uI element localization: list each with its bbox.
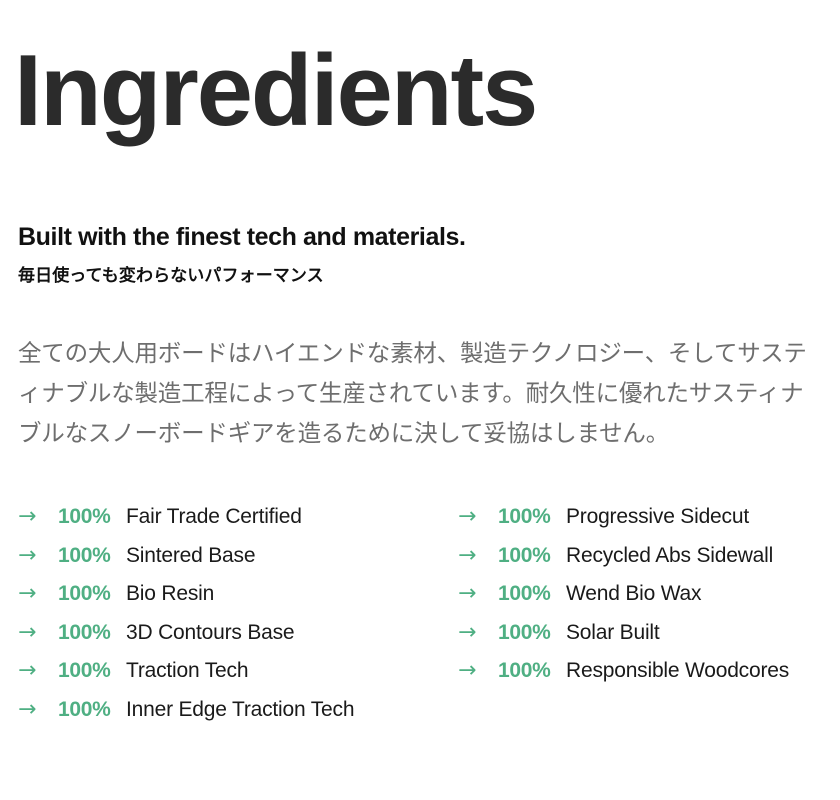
page-title: Ingredients bbox=[14, 38, 536, 144]
feature-item: →100%Responsible Woodcores bbox=[458, 659, 789, 698]
arrow-right-icon: → bbox=[458, 583, 498, 605]
feature-percent: 100% bbox=[58, 582, 126, 606]
feature-percent: 100% bbox=[58, 621, 126, 645]
arrow-right-icon: → bbox=[458, 545, 498, 567]
feature-item: →100%Recycled Abs Sidewall bbox=[458, 544, 789, 583]
feature-label: 3D Contours Base bbox=[126, 621, 294, 645]
feature-item: →100%Solar Built bbox=[458, 621, 789, 660]
feature-label: Fair Trade Certified bbox=[126, 505, 302, 529]
ingredients-page: Ingredients Built with the finest tech a… bbox=[0, 0, 840, 800]
feature-item: →100%Wend Bio Wax bbox=[458, 582, 789, 621]
arrow-right-icon: → bbox=[458, 506, 498, 528]
feature-label: Responsible Woodcores bbox=[566, 659, 789, 683]
arrow-right-icon: → bbox=[18, 660, 58, 682]
feature-percent: 100% bbox=[58, 544, 126, 568]
feature-column-right: →100%Progressive Sidecut→100%Recycled Ab… bbox=[458, 505, 789, 698]
feature-item: →100%Traction Tech bbox=[18, 659, 354, 698]
intro-paragraph: 全ての大人用ボードはハイエンドな素材、製造テクノロジー、そしてサスティナブルな製… bbox=[18, 333, 824, 453]
feature-percent: 100% bbox=[498, 621, 566, 645]
section-subheading-japanese: 毎日使っても変わらないパフォーマンス bbox=[18, 265, 324, 287]
feature-percent: 100% bbox=[58, 698, 126, 722]
arrow-right-icon: → bbox=[18, 699, 58, 721]
feature-label: Wend Bio Wax bbox=[566, 582, 701, 606]
feature-item: →100%Inner Edge Traction Tech bbox=[18, 698, 354, 737]
arrow-right-icon: → bbox=[458, 660, 498, 682]
feature-item: →100%Bio Resin bbox=[18, 582, 354, 621]
feature-item: →100%Progressive Sidecut bbox=[458, 505, 789, 544]
feature-item: →100%3D Contours Base bbox=[18, 621, 354, 660]
arrow-right-icon: → bbox=[18, 506, 58, 528]
feature-percent: 100% bbox=[498, 582, 566, 606]
feature-label: Bio Resin bbox=[126, 582, 214, 606]
feature-percent: 100% bbox=[58, 505, 126, 529]
feature-label: Traction Tech bbox=[126, 659, 248, 683]
feature-percent: 100% bbox=[498, 505, 566, 529]
feature-percent: 100% bbox=[58, 659, 126, 683]
feature-label: Sintered Base bbox=[126, 544, 255, 568]
feature-label: Inner Edge Traction Tech bbox=[126, 698, 354, 722]
feature-percent: 100% bbox=[498, 659, 566, 683]
feature-label: Recycled Abs Sidewall bbox=[566, 544, 773, 568]
feature-list: →100%Fair Trade Certified→100%Sintered B… bbox=[0, 505, 840, 755]
arrow-right-icon: → bbox=[18, 622, 58, 644]
feature-label: Solar Built bbox=[566, 621, 660, 645]
feature-item: →100%Sintered Base bbox=[18, 544, 354, 583]
feature-item: →100%Fair Trade Certified bbox=[18, 505, 354, 544]
arrow-right-icon: → bbox=[18, 545, 58, 567]
feature-column-left: →100%Fair Trade Certified→100%Sintered B… bbox=[18, 505, 354, 737]
feature-percent: 100% bbox=[498, 544, 566, 568]
feature-label: Progressive Sidecut bbox=[566, 505, 749, 529]
section-subheading: Built with the finest tech and materials… bbox=[18, 222, 466, 252]
arrow-right-icon: → bbox=[458, 622, 498, 644]
arrow-right-icon: → bbox=[18, 583, 58, 605]
